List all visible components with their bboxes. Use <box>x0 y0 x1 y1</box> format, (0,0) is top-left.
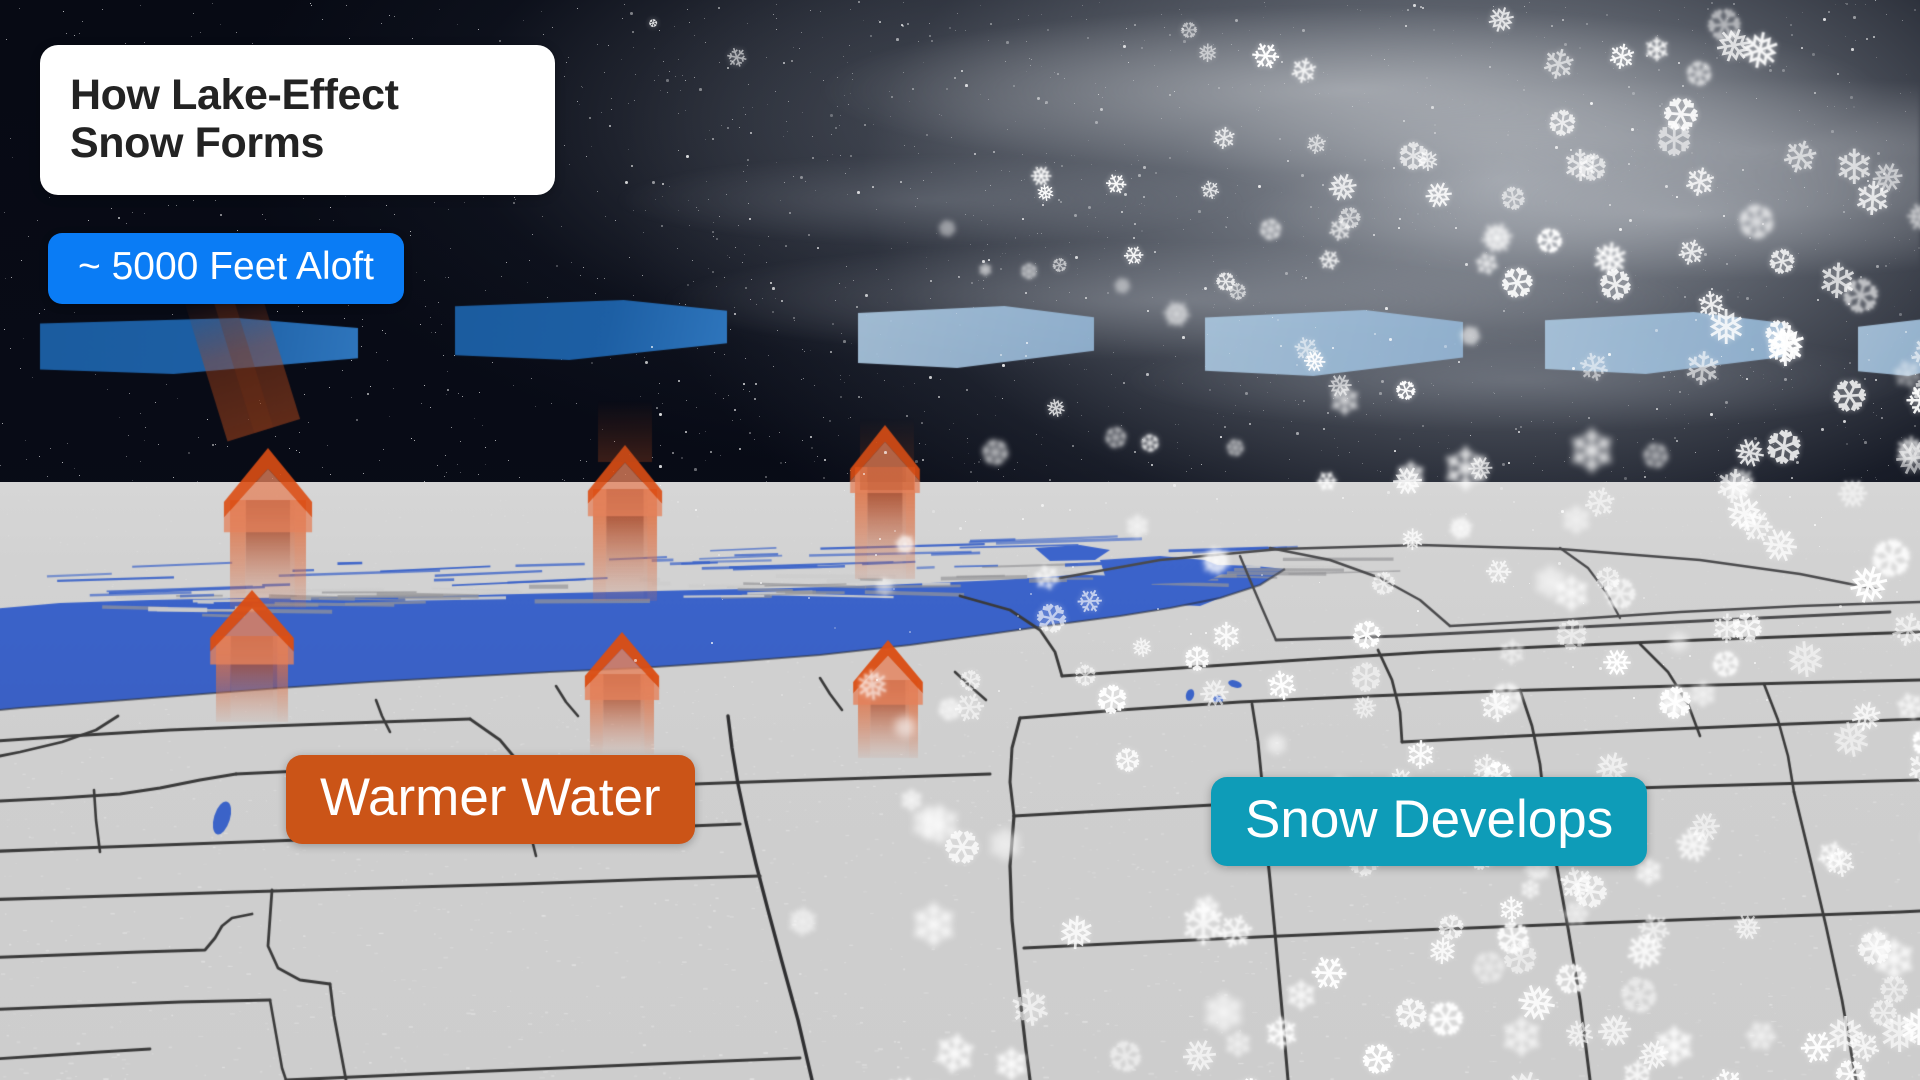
status-badge-aloft: ~ 5000 Feet Aloft <box>48 233 404 304</box>
badge-label-aloft: ~ 5000 Feet Aloft <box>78 247 374 288</box>
status-badge-snow-develops: Snow Develops <box>1211 777 1647 866</box>
badge-label-snow-develops: Snow Develops <box>1245 793 1613 846</box>
status-badge-warmer-water: Warmer Water <box>286 755 695 844</box>
badge-label-warmer-water: Warmer Water <box>320 771 661 824</box>
page-title: How Lake-Effect Snow Forms <box>70 71 525 167</box>
weather-graphic-canvas: ❄❅❆❄❅❆❅❅❅❄❅❅❆❄❅❅❅❅❆❆❄❆❆❅❄❄❅❄❄❅❄❆❅❆❄❆❅❄❆❅… <box>0 0 1920 1080</box>
title-card: How Lake-Effect Snow Forms <box>40 45 555 195</box>
